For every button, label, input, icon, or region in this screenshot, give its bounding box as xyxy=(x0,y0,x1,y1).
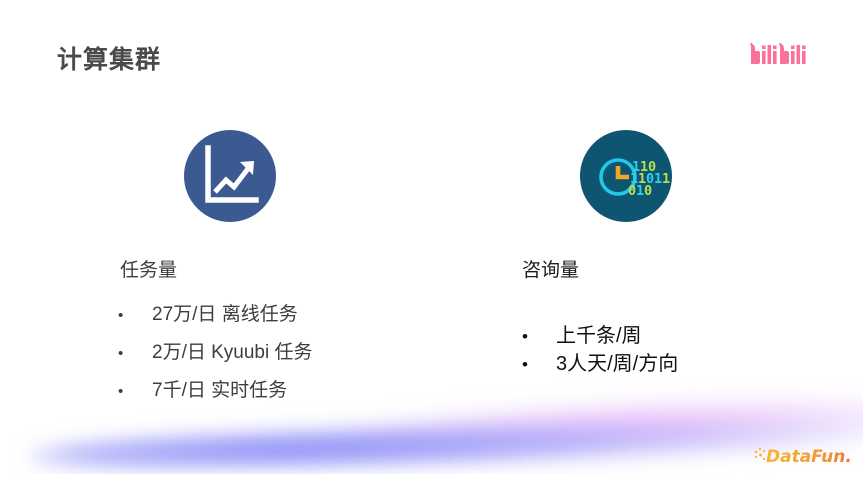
bullet-text: 2万/日 Kyuubi 任务 xyxy=(152,337,313,364)
bullet-text: 3人天/周/方向 xyxy=(556,347,678,376)
column-heading-task-volume: 任务量 xyxy=(120,260,440,283)
list-item: • 27万/日 离线任务 xyxy=(118,299,440,337)
column-heading-consult-volume: 咨询量 xyxy=(522,260,842,283)
page-title: 计算集群 xyxy=(57,40,161,76)
bullet-text: 27万/日 离线任务 xyxy=(152,299,298,326)
column-consult-volume: 1 1 0 1 1 0 1 1 0 1 0 咨询量 • 上千条/周 • 3人天/… xyxy=(512,130,842,375)
bullet-marker: • xyxy=(118,384,152,399)
svg-text:0: 0 xyxy=(628,183,636,199)
list-item: • 3人天/周/方向 xyxy=(522,347,842,375)
column-task-volume: 任务量 • 27万/日 离线任务 • 2万/日 Kyuubi 任务 • 7千/日… xyxy=(110,130,440,413)
bullet-text: 7千/日 实时任务 xyxy=(152,375,287,402)
list-item: • 7千/日 实时任务 xyxy=(118,375,440,413)
bullet-marker: • xyxy=(118,308,152,323)
datafun-logo: DataFun. xyxy=(753,444,853,468)
svg-text:1: 1 xyxy=(662,171,670,187)
bullet-marker: • xyxy=(522,328,556,345)
wave-band-blue-inner xyxy=(60,430,620,468)
slide-canvas: 计算集群 xyxy=(0,0,863,490)
svg-text:0: 0 xyxy=(644,183,652,199)
bilibili-logo xyxy=(749,42,845,72)
svg-text:DataFun.: DataFun. xyxy=(766,447,852,467)
svg-text:1: 1 xyxy=(654,171,662,187)
wave-band-blue xyxy=(30,410,863,479)
line-chart-growth-icon xyxy=(184,130,276,222)
bullet-text: 上千条/周 xyxy=(556,319,642,348)
clock-binary-icon: 1 1 0 1 1 0 1 1 0 1 0 xyxy=(580,130,672,222)
consult-volume-bullet-list: • 上千条/周 • 3人天/周/方向 xyxy=(522,319,842,375)
svg-text:1: 1 xyxy=(636,183,644,199)
wave-bottom-mask xyxy=(0,474,863,490)
bullet-marker: • xyxy=(118,346,152,361)
task-volume-bullet-list: • 27万/日 离线任务 • 2万/日 Kyuubi 任务 • 7千/日 实时任… xyxy=(118,299,440,413)
list-item: • 2万/日 Kyuubi 任务 xyxy=(118,337,440,375)
list-item: • 上千条/周 xyxy=(522,319,842,347)
bullet-marker: • xyxy=(522,356,556,373)
